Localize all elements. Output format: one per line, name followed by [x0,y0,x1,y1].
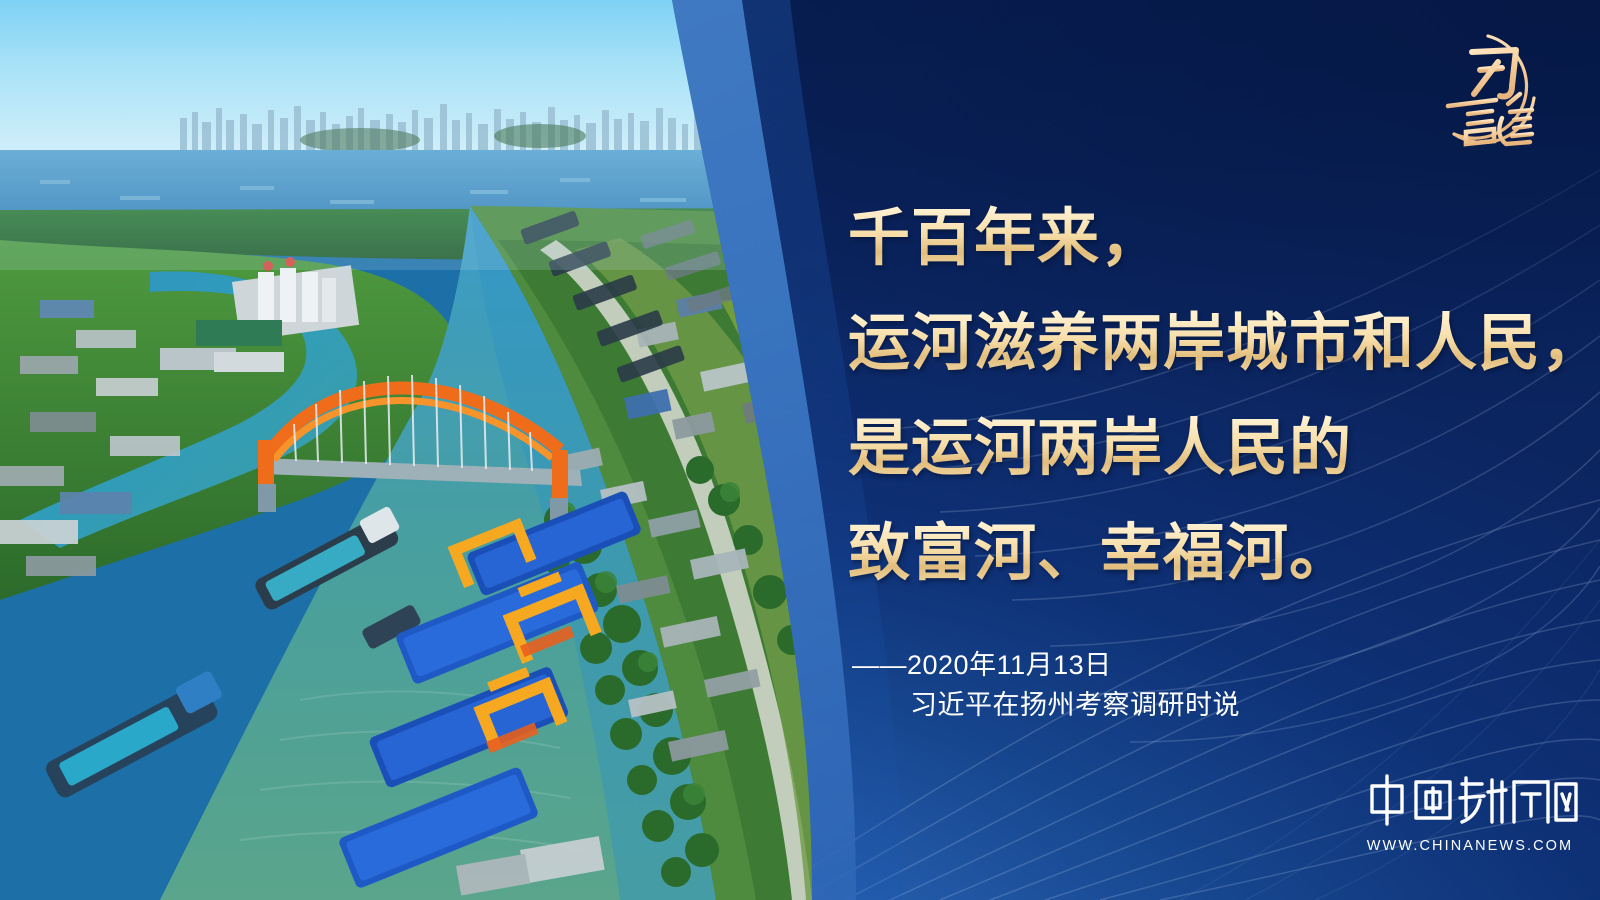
quote-line-1: 千百年来， [848,185,1568,290]
chinanews-brand[interactable]: WWW.CHINANEWS.COM [1362,772,1578,854]
xi-yan-dao-seal-logo [1424,24,1552,164]
quote-line-4: 致富河、幸福河。 [848,500,1568,605]
chinanews-wordmark [1362,772,1578,833]
attribution-source: 习近平在扬州考察调研时说 [852,685,1240,725]
quote-block: 千百年来， 运河滋养两岸城市和人民， 是运河两岸人民的 致富河、幸福河。 [848,185,1568,605]
attribution-block: ——2020年11月13日 习近平在扬州考察调研时说 [852,645,1240,725]
attribution-date: ——2020年11月13日 [852,645,1240,685]
chinanews-url: WWW.CHINANEWS.COM [1362,838,1578,854]
poster-canvas: 千百年来， 运河滋养两岸城市和人民， 是运河两岸人民的 致富河、幸福河。 ——2… [0,0,1600,900]
quote-line-3: 是运河两岸人民的 [848,395,1568,500]
quote-line-2: 运河滋养两岸城市和人民， [848,290,1568,395]
